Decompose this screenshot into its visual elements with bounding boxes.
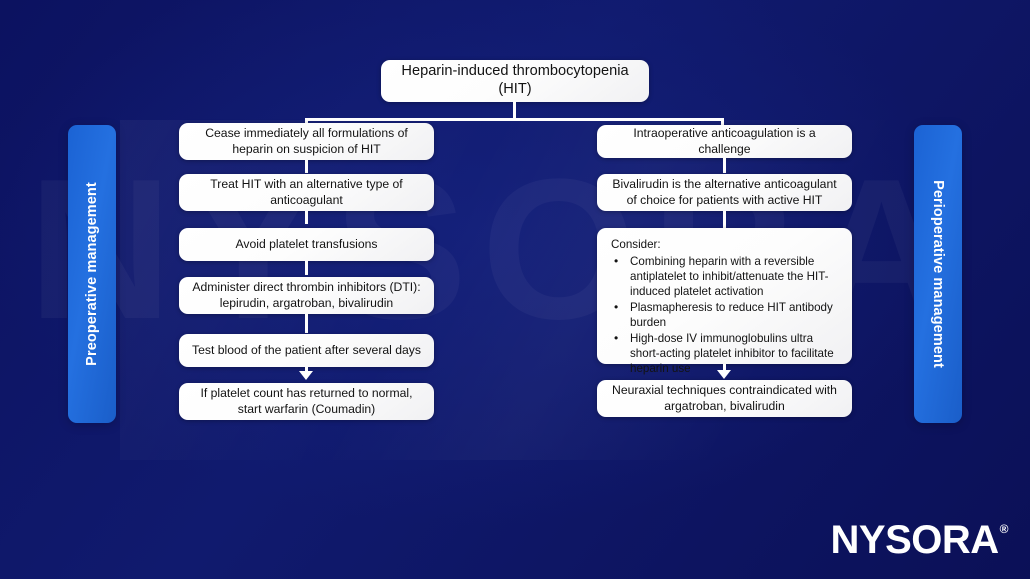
consider-box: Consider: Combining heparin with a rever… [597,228,852,364]
nysora-logo-text: NYSORA [831,518,999,563]
consider-lead: Consider: [611,238,661,253]
step-test-blood: Test blood of the patient after several … [179,334,434,367]
banner-preoperative-label: Preoperative management [84,182,100,366]
connector-left-1 [305,160,308,173]
connector-split-horizontal [305,118,724,121]
step-bivalirudin-choice: Bivalirudin is the alternative anticoagu… [597,174,852,211]
connector-right-1 [723,158,726,173]
banner-perioperative-label: Perioperative management [930,180,946,368]
banner-perioperative-management: Perioperative management [914,125,962,423]
step-warfarin: If platelet count has returned to normal… [179,383,434,420]
title-box-hit: Heparin-induced thrombocytopenia (HIT) [381,60,649,102]
consider-bullet-list: Combining heparin with a reversible anti… [611,254,840,377]
step-cease-heparin: Cease immediately all formulations of he… [179,123,434,160]
registered-trademark-icon: ® [1000,522,1008,536]
title-line-2: (HIT) [401,81,628,99]
step-avoid-transfusions: Avoid platelet transfusions [179,228,434,261]
step-administer-dti: Administer direct thrombin inhibitors (D… [179,277,434,314]
banner-preoperative-management: Preoperative management [68,125,116,423]
connector-left-2 [305,211,308,224]
arrowhead-right-3 [717,370,731,379]
diagram-canvas: NYSORA Preoperative management Periopera… [0,0,1030,579]
step-neuraxial-contraindicated: Neuraxial techniques contraindicated wit… [597,380,852,417]
arrowhead-left-5 [299,371,313,380]
connector-left-3 [305,261,308,275]
consider-bullet-2: Plasmapheresis to reduce HIT antibody bu… [611,301,840,331]
title-line-1: Heparin-induced thrombocytopenia [401,63,628,81]
step-treat-alternative: Treat HIT with an alternative type of an… [179,174,434,211]
connector-right-2 [723,211,726,228]
nysora-logo: NYSORA ® [831,518,1008,563]
step-intraoperative-challenge: Intraoperative anticoagulation is a chal… [597,125,852,158]
consider-bullet-1: Combining heparin with a reversible anti… [611,255,840,300]
connector-left-4 [305,314,308,333]
